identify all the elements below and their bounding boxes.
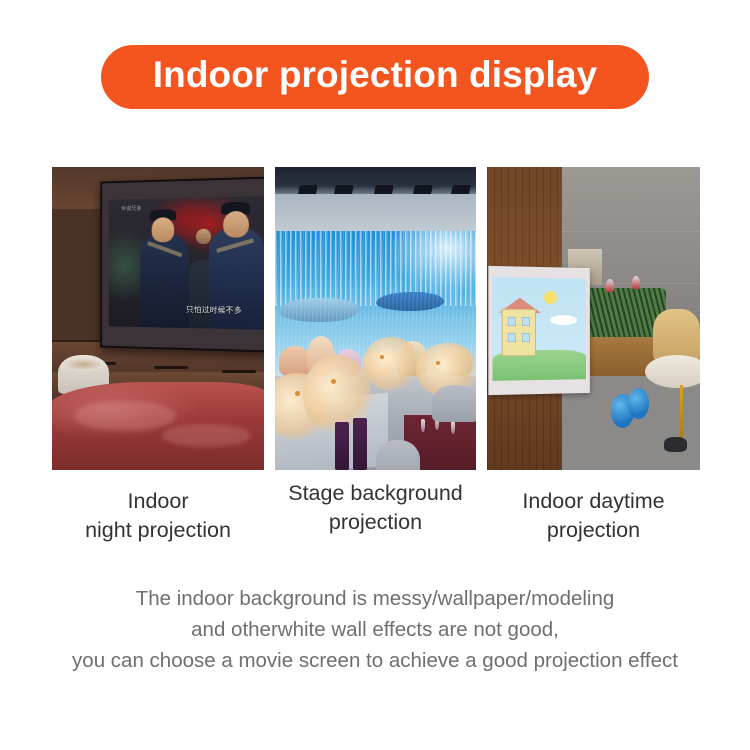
caption-indoor-night: Indoor night projection xyxy=(52,487,264,545)
drawing-house xyxy=(502,309,536,356)
blanket-fold xyxy=(162,424,250,447)
drawing-window xyxy=(508,317,516,326)
header-banner: Indoor projection display xyxy=(101,45,649,110)
footer-note: The indoor background is messy/wallpaper… xyxy=(0,583,750,676)
blanket-fold xyxy=(74,401,175,431)
cabinet-handle xyxy=(222,370,256,373)
hedge-decoration xyxy=(606,279,614,292)
footer-note-line: you can choose a movie screen to achieve… xyxy=(0,645,750,676)
floral-accent xyxy=(436,361,440,365)
projected-subtitle: 只怕过时候不多 xyxy=(186,304,242,316)
footer-note-line: and otherwhite wall effects are not good… xyxy=(0,614,750,645)
purple-chair xyxy=(353,418,367,470)
drawing-window xyxy=(508,333,516,342)
caption-indoor-daytime: Indoor daytime projection xyxy=(487,487,700,545)
page-title: Indoor projection display xyxy=(153,56,597,95)
banquet-seat xyxy=(432,385,476,421)
floral-accent xyxy=(380,355,384,359)
photo-indoor-night[interactable]: 仲谋兄弟 只怕过时候不多 xyxy=(52,167,264,470)
projected-child-drawing xyxy=(493,278,587,381)
table-leg xyxy=(680,385,683,440)
bed-blanket xyxy=(52,382,264,470)
wall-seam xyxy=(559,231,700,232)
wine-glass xyxy=(451,421,455,434)
blue-ball xyxy=(628,388,649,418)
caption-line: Indoor daytime xyxy=(487,487,700,516)
drawing-window xyxy=(522,333,530,342)
projected-top-caption: 仲谋兄弟 xyxy=(121,205,141,212)
image-gallery: 仲谋兄弟 只怕过时候不多 xyxy=(52,167,700,470)
drawing-sun xyxy=(544,291,557,304)
caption-line: Stage background xyxy=(275,479,476,508)
wine-glass xyxy=(421,419,425,432)
stool-top-pattern xyxy=(62,358,105,371)
photo-indoor-daytime[interactable] xyxy=(487,167,700,470)
drawing-window xyxy=(522,317,530,326)
header-region: Indoor projection display xyxy=(0,0,750,140)
caption-line: night projection xyxy=(52,516,264,545)
stage-wall-band xyxy=(275,194,476,233)
floral-centerpiece xyxy=(363,337,419,392)
drawing-cloud xyxy=(550,315,577,325)
armchair xyxy=(653,309,700,361)
gallery-captions: Indoor night projection Stage background… xyxy=(52,487,700,545)
caption-line: projection xyxy=(275,508,476,537)
footer-note-line: The indoor background is messy/wallpaper… xyxy=(0,583,750,614)
caption-stage-background: Stage background projection xyxy=(275,479,476,545)
caption-line: Indoor xyxy=(52,487,264,516)
projected-movie-frame: 仲谋兄弟 只怕过时候不多 xyxy=(108,196,264,330)
movie-face xyxy=(151,217,174,242)
photo-stage-background[interactable] xyxy=(275,167,476,470)
purple-chair xyxy=(335,422,349,470)
cabinet-handle xyxy=(154,366,188,369)
movie-face xyxy=(196,229,211,245)
movie-face xyxy=(222,211,248,238)
projector-screen: 仲谋兄弟 只怕过时候不多 xyxy=(100,176,264,352)
caption-line: projection xyxy=(487,516,700,545)
shoe xyxy=(664,437,687,452)
projection-sheet xyxy=(488,266,590,396)
banquet-seat xyxy=(376,440,420,470)
hedge-decoration xyxy=(632,276,640,289)
